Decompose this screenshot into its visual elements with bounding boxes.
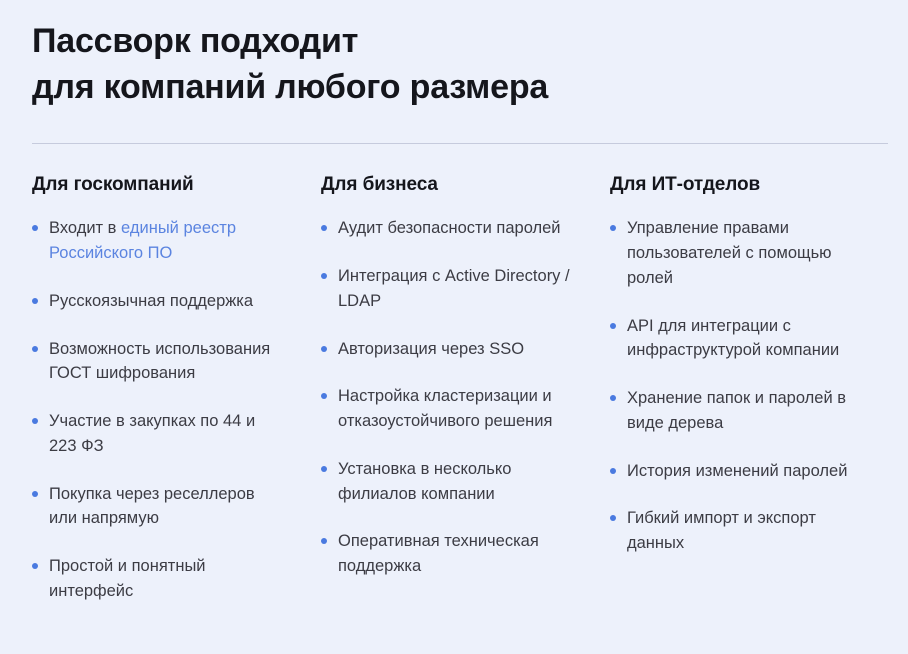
feature-list-it: Управление правами пользователей с помощ… xyxy=(610,216,895,556)
list-item: Настройка кластеризации и отказоустойчив… xyxy=(321,384,576,434)
list-item: Участие в закупках по 44 и 223 ФЗ xyxy=(32,409,287,459)
list-item: Оперативная техническая поддержка xyxy=(321,529,576,579)
column-title-it: Для ИТ-отделов xyxy=(610,174,895,196)
list-item: Простой и понятный интерфейс xyxy=(32,554,287,604)
section-divider xyxy=(32,143,888,144)
list-item-text: Входит в xyxy=(49,219,121,237)
list-item: Гибкий импорт и экспорт данных xyxy=(610,506,865,556)
list-item: Входит в единый реестр Российского ПО xyxy=(32,216,287,266)
list-item: Аудит безопасности паролей xyxy=(321,216,576,241)
list-item: Авторизация через SSO xyxy=(321,337,576,362)
list-item: Установка в несколько филиалов компании xyxy=(321,457,576,507)
list-item: API для интеграции с инфраструктурой ком… xyxy=(610,314,865,364)
pricing-audience-section: Пассворк подходит для компаний любого ра… xyxy=(0,0,908,654)
column-business: Для бизнеса Аудит безопасности паролей И… xyxy=(321,174,606,603)
feature-list-business: Аудит безопасности паролей Интеграция с … xyxy=(321,216,606,579)
list-item: Возможность использования ГОСТ шифровани… xyxy=(32,337,287,387)
audience-columns: Для госкомпаний Входит в единый реестр Р… xyxy=(32,174,876,603)
column-title-business: Для бизнеса xyxy=(321,174,606,196)
list-item: Русскоязычная поддержка xyxy=(32,289,287,314)
list-item: Управление правами пользователей с помощ… xyxy=(610,216,865,290)
column-it: Для ИТ-отделов Управление правами пользо… xyxy=(610,174,895,603)
page-title: Пассворк подходит для компаний любого ра… xyxy=(32,0,876,110)
list-item: Хранение папок и паролей в виде дерева xyxy=(610,386,865,436)
list-item: Покупка через реселлеров или напрямую xyxy=(32,482,287,532)
list-item: История изменений паролей xyxy=(610,459,865,484)
list-item: Интеграция с Active Directory / LDAP xyxy=(321,264,576,314)
column-gov: Для госкомпаний Входит в единый реестр Р… xyxy=(32,174,317,603)
feature-list-gov: Входит в единый реестр Российского ПО Ру… xyxy=(32,216,317,603)
column-title-gov: Для госкомпаний xyxy=(32,174,317,196)
